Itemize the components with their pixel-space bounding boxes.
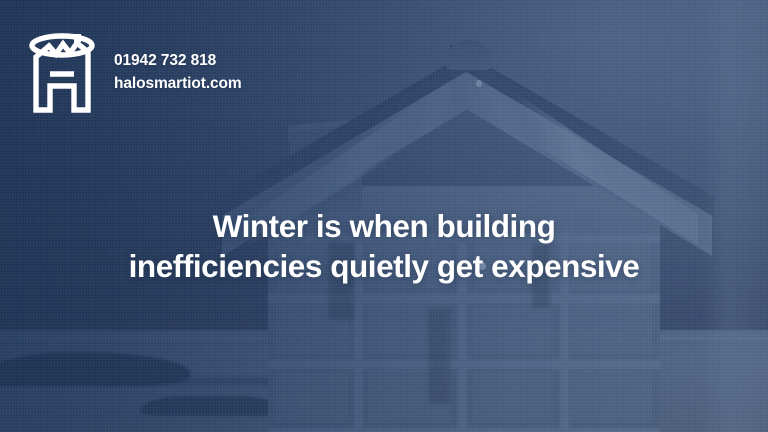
headline-line-2: inefficiencies quietly get expensive	[34, 246, 734, 286]
contact-phone[interactable]: 01942 732 818	[114, 50, 242, 71]
headline-line-1: Winter is when building	[34, 206, 734, 246]
contact-details: 01942 732 818 halosmartiot.com	[114, 50, 242, 95]
contact-website[interactable]: halosmartiot.com	[114, 73, 242, 94]
halo-house-logo-icon	[24, 30, 100, 114]
promo-banner: 01942 732 818 halosmartiot.com Winter is…	[0, 0, 768, 432]
headline: Winter is when building inefficiencies q…	[0, 206, 768, 287]
logo-lockup[interactable]: 01942 732 818 halosmartiot.com	[24, 30, 242, 114]
